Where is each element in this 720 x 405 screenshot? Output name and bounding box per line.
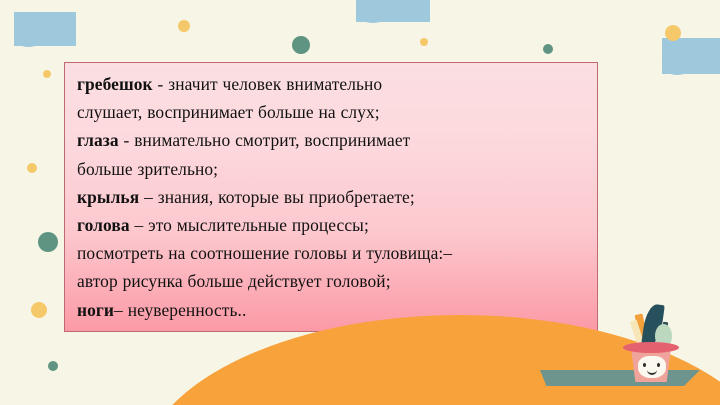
pencil-pot-face xyxy=(638,356,666,378)
lesson-text-line: гребешок - значит человек внимательно xyxy=(77,70,587,98)
lesson-text-line: голова – это мыслительные процессы; xyxy=(77,211,587,239)
lesson-term-0: гребешок xyxy=(77,74,153,94)
lesson-text-line: автор рисунка больше действует головой; xyxy=(77,267,587,295)
lesson-text-line: крылья – знания, которые вы приобретаете… xyxy=(77,183,587,211)
dot-yellow-4 xyxy=(665,25,681,41)
dot-green-1 xyxy=(292,36,310,54)
pot-eye-right-icon xyxy=(657,363,660,367)
dot-yellow-1 xyxy=(178,20,190,32)
lesson-term-2: глаза xyxy=(77,130,119,150)
dot-yellow-3 xyxy=(420,38,428,46)
dot-green-4 xyxy=(48,361,58,371)
desk-surface-shape xyxy=(540,370,700,386)
lesson-text-block: гребешок - значит человек внимательнослу… xyxy=(77,70,587,324)
pot-eye-left-icon xyxy=(643,363,646,367)
lesson-term-5: голова xyxy=(77,215,130,235)
lesson-text-line: больше зрительно; xyxy=(77,155,587,183)
lesson-text-line: посмотреть на соотношение головы и тулов… xyxy=(77,239,587,267)
dot-green-3 xyxy=(38,232,58,252)
cloud-top-right-icon xyxy=(662,38,720,74)
dot-yellow-2 xyxy=(43,70,51,78)
dot-green-2 xyxy=(543,44,553,54)
cloud-top-left-icon xyxy=(14,12,76,46)
lesson-text-line: глаза - внимательно смотрит, воспринимае… xyxy=(77,126,587,154)
lesson-text-line: слушает, воспринимает больше на слух; xyxy=(77,98,587,126)
dot-yellow-6 xyxy=(31,302,47,318)
slide-canvas: гребешок - значит человек внимательнослу… xyxy=(0,0,720,405)
dot-yellow-5 xyxy=(27,163,37,173)
content-panel: гребешок - значит человек внимательнослу… xyxy=(64,62,598,332)
lesson-term-4: крылья xyxy=(77,187,139,207)
lesson-term-8: ноги xyxy=(77,300,114,320)
pot-mouth-icon xyxy=(647,369,657,375)
cloud-top-center-icon xyxy=(356,0,430,22)
pencil-pot-rim xyxy=(623,342,679,353)
